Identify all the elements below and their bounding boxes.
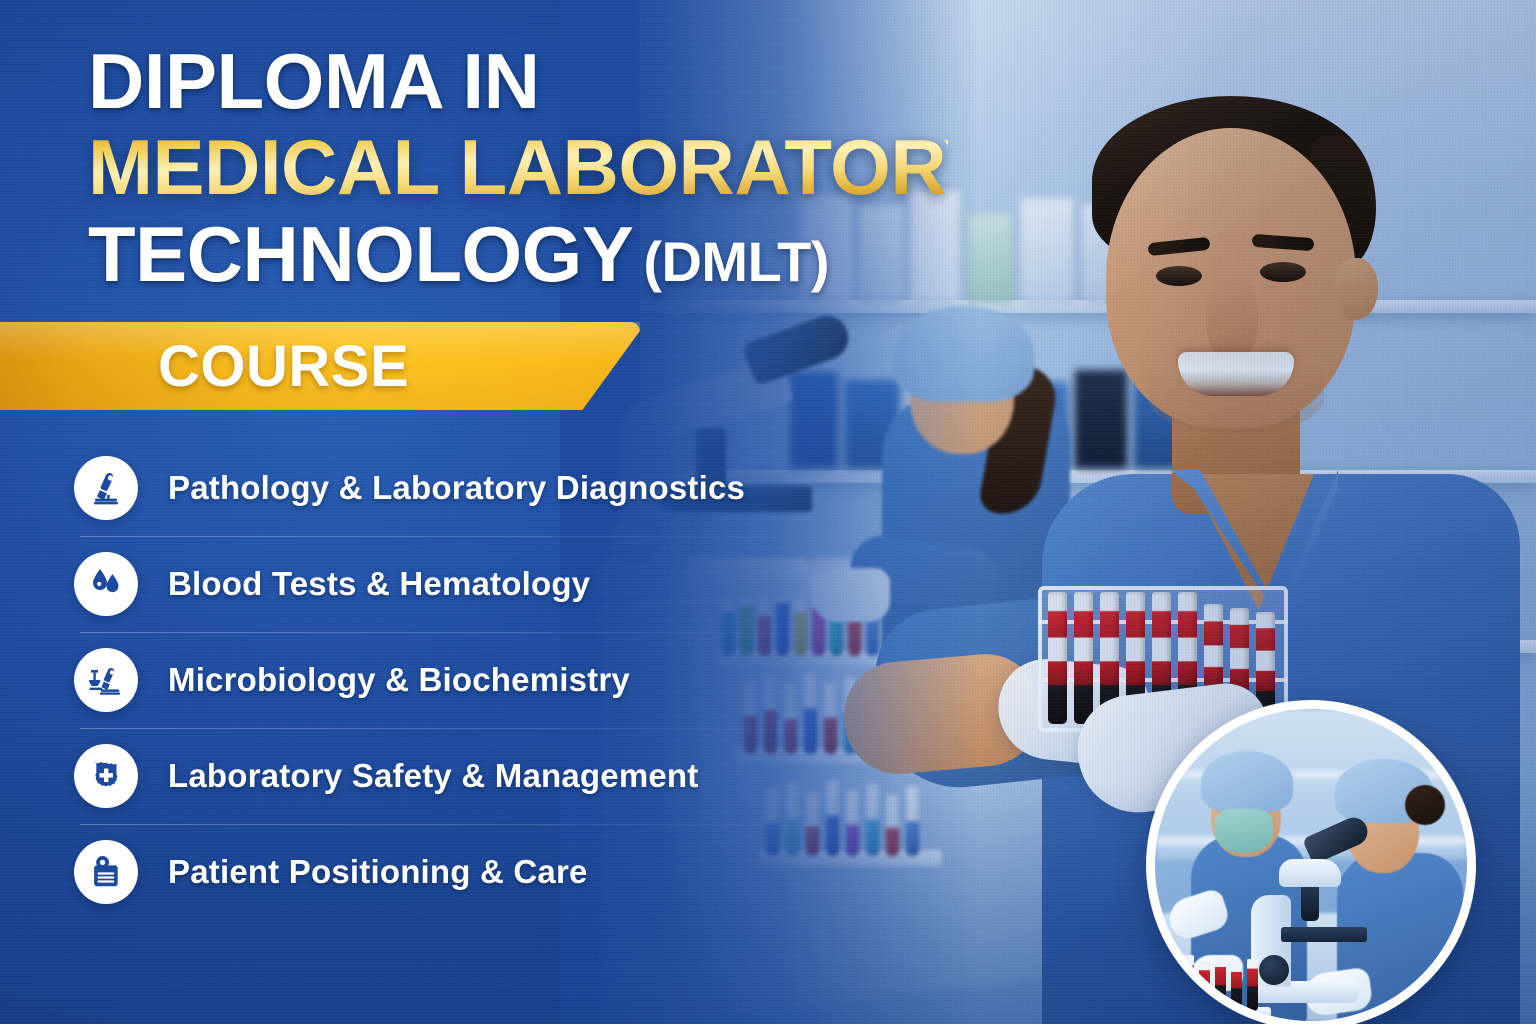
- title-line-1: DIPLOMA IN: [88, 44, 948, 119]
- feature-label: Laboratory Safety & Management: [168, 757, 698, 795]
- feature-label: Pathology & Laboratory Diagnostics: [168, 469, 745, 507]
- microscope-flask-icon: [74, 648, 138, 712]
- microscope-icon: [74, 456, 138, 520]
- feature-item: Blood Tests & Hematology: [74, 536, 874, 632]
- feature-item: Pathology & Laboratory Diagnostics: [74, 440, 874, 536]
- text-content: DIPLOMA IN MEDICAL LABORATORY TECHNOLOGY…: [0, 0, 1000, 1024]
- feature-item: Microbiology & Biochemistry: [74, 632, 874, 728]
- feature-label: Blood Tests & Hematology: [168, 565, 590, 603]
- headline-block: DIPLOMA IN MEDICAL LABORATORY TECHNOLOGY…: [88, 44, 948, 292]
- feature-label: Microbiology & Biochemistry: [168, 661, 630, 699]
- title-line-2: MEDICAL LABORATORY: [88, 130, 948, 205]
- inset-photo-circle: [1146, 700, 1476, 1024]
- feature-item: Laboratory Safety & Management: [74, 728, 874, 824]
- feature-list: Pathology & Laboratory Diagnostics Blood…: [74, 440, 874, 920]
- course-ribbon: COURSE: [0, 322, 640, 410]
- dmlt-course-banner: DIPLOMA IN MEDICAL LABORATORY TECHNOLOGY…: [0, 0, 1536, 1024]
- blood-drops-icon: [74, 552, 138, 616]
- course-ribbon-label: COURSE: [158, 333, 409, 400]
- title-abbreviation: (DMLT): [643, 230, 829, 293]
- feature-label: Patient Positioning & Care: [168, 853, 588, 891]
- patient-chart-icon: [74, 840, 138, 904]
- title-technology: TECHNOLOGY: [88, 210, 633, 298]
- inset-photo-content: [1155, 709, 1467, 1021]
- inset-tube-rack: [1161, 947, 1271, 1019]
- feature-item: Patient Positioning & Care: [74, 824, 874, 920]
- safety-shield-cross-icon: [74, 744, 138, 808]
- title-line-3: TECHNOLOGY(DMLT): [88, 217, 948, 292]
